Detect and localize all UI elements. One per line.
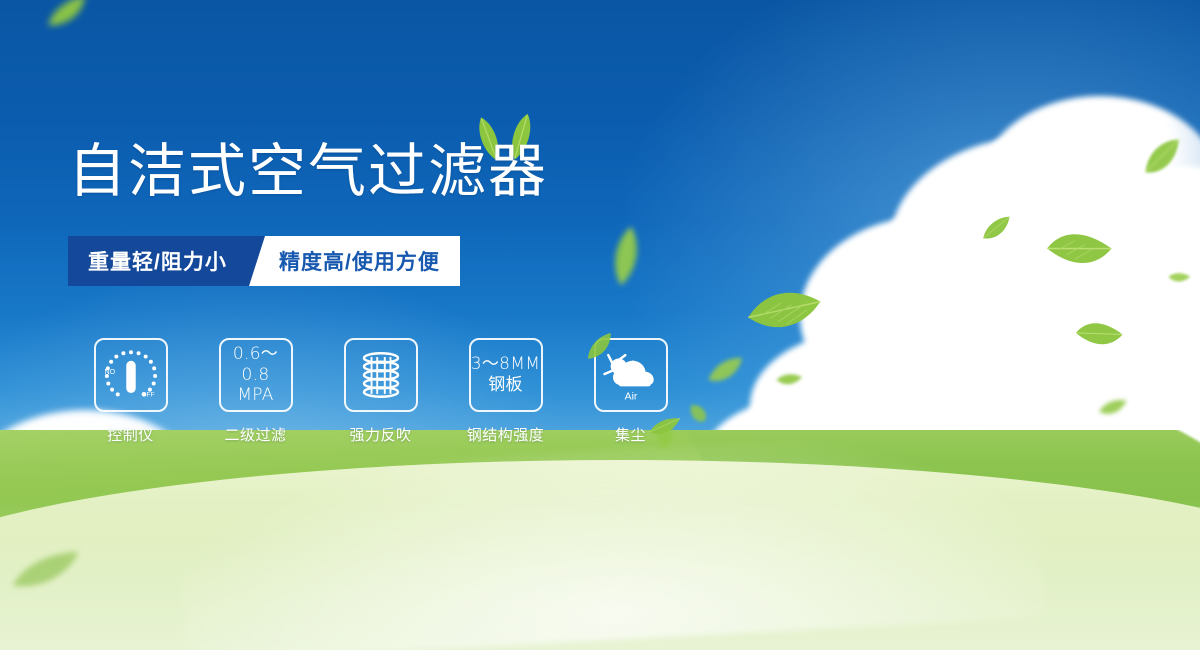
pressure-value-icon: 0.6～0.8 MPA <box>219 338 293 412</box>
feature-item[interactable]: 强力反吹 <box>318 338 443 445</box>
feature-list: NO OFF 控制仪 0.6～0.8 MPA 二级过滤 <box>68 338 693 445</box>
air-cloud-glyph: Air <box>596 338 666 412</box>
steel-line-2: 钢板 <box>471 375 540 396</box>
air-cloud-icon: Air <box>594 338 668 412</box>
pressure-value-text: 0.6～0.8 MPA <box>221 344 291 406</box>
pressure-line-2: MPA <box>221 385 291 406</box>
feature-label: 强力反吹 <box>349 424 411 445</box>
steel-plate-text: 3～8MM 钢板 <box>471 354 540 395</box>
feature-label: 二级过滤 <box>224 424 286 445</box>
feature-item[interactable]: 0.6～0.8 MPA 二级过滤 <box>193 338 318 445</box>
subtitle-right: 精度高/使用方便 <box>249 236 460 286</box>
dial-on-label: NO <box>104 368 115 376</box>
subtitle-banner: 重量轻/阻力小 精度高/使用方便 <box>68 236 460 286</box>
control-dial-glyph: NO OFF <box>96 338 166 412</box>
feature-label: 集尘 <box>615 424 646 445</box>
feature-item[interactable]: NO OFF 控制仪 <box>68 338 193 445</box>
feature-item[interactable]: 3～8MM 钢板 钢结构强度 <box>443 338 568 445</box>
dial-off-label: OFF <box>141 392 154 399</box>
banner-stage: 自洁式空气过滤器 重量轻/阻力小 精度高/使用方便 <box>0 0 1200 650</box>
feature-label: 钢结构强度 <box>467 424 545 445</box>
steel-plate-icon: 3～8MM 钢板 <box>469 338 543 412</box>
filter-cartridge-icon <box>344 338 418 412</box>
steel-line-1: 3～8MM <box>471 354 540 375</box>
filter-cartridge-glyph <box>346 338 416 412</box>
page-title: 自洁式空气过滤器 <box>68 142 548 200</box>
feature-item[interactable]: Air 集尘 <box>568 338 693 445</box>
banner-content: 自洁式空气过滤器 重量轻/阻力小 精度高/使用方便 <box>0 0 1200 650</box>
control-dial-icon: NO OFF <box>94 338 168 412</box>
subtitle-left: 重量轻/阻力小 <box>68 236 249 286</box>
feature-label: 控制仪 <box>107 424 154 445</box>
air-label: Air <box>624 392 637 403</box>
pressure-line-1: 0.6～0.8 <box>221 344 291 385</box>
